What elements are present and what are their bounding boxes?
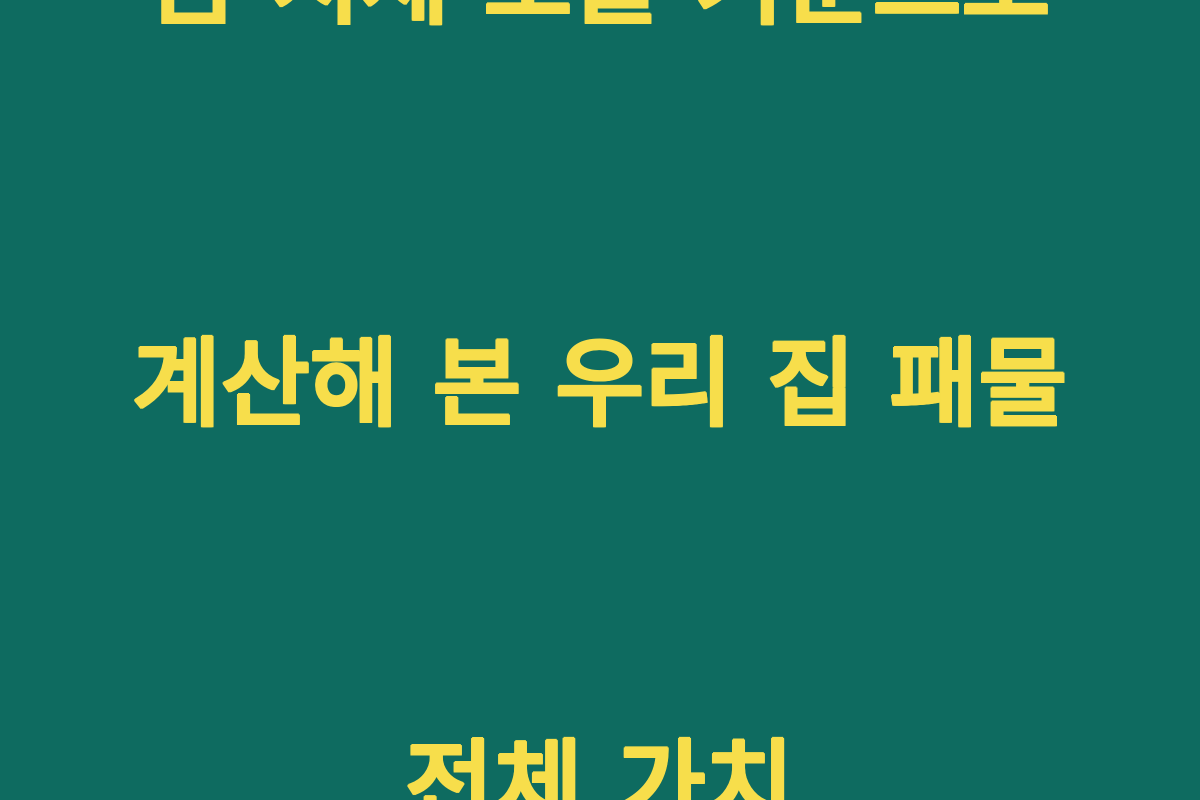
- thumbnail-canvas: 금 시세 오늘 기준으로 계산해 본 우리 집 패물 전체 가치: [0, 0, 1200, 800]
- headline-line-3: 전체 가치: [80, 719, 1120, 800]
- headline-text-block: 금 시세 오늘 기준으로 계산해 본 우리 집 패물 전체 가치: [80, 0, 1120, 800]
- headline-line-2: 계산해 본 우리 집 패물: [80, 317, 1120, 451]
- headline-line-1: 금 시세 오늘 기준으로: [80, 0, 1120, 49]
